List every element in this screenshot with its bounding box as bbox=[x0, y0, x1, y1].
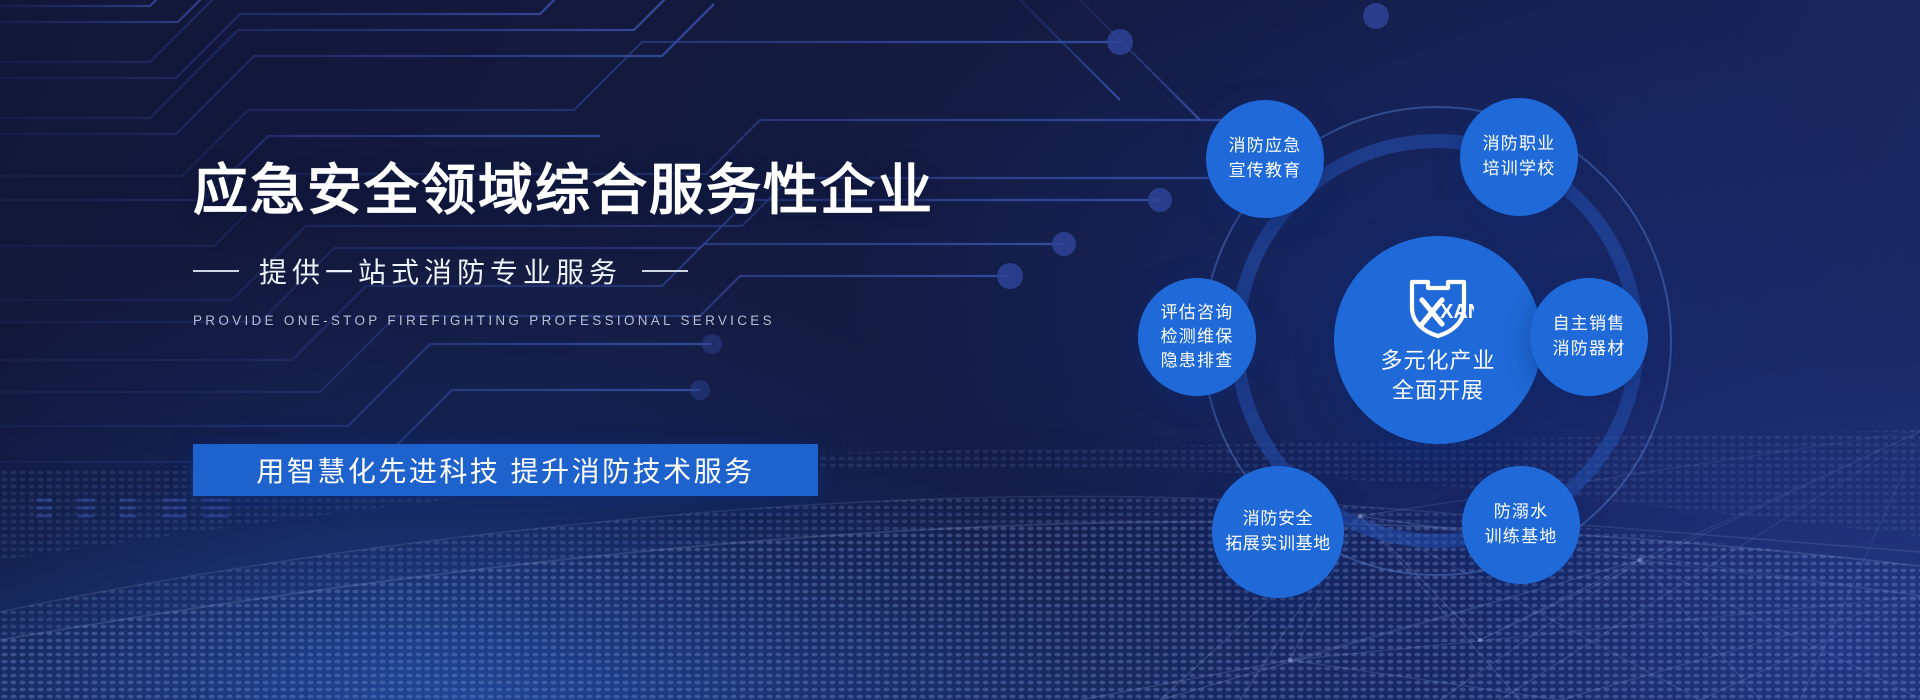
node-line-1: 自主销售 bbox=[1553, 312, 1626, 337]
center-label: 多元化产业 全面开展 bbox=[1380, 346, 1495, 405]
circuit-ticks bbox=[36, 500, 228, 516]
diagram-node-right[interactable]: 自主销售 消防器材 bbox=[1530, 278, 1648, 396]
shield-logo-icon: XAN bbox=[1402, 274, 1474, 340]
subtitle-row: 提供一站式消防专业服务 bbox=[193, 251, 893, 291]
node-line-2: 拓展实训基地 bbox=[1225, 532, 1331, 557]
subtitle-en: PROVIDE ONE-STOP FIREFIGHTING PROFESSION… bbox=[193, 313, 893, 328]
diagram-node-left[interactable]: 评估咨询 检测维保 隐患排查 bbox=[1138, 278, 1256, 396]
logo-text: XAN bbox=[1440, 301, 1474, 323]
diagram-center-node[interactable]: XAN 多元化产业 全面开展 bbox=[1334, 236, 1542, 444]
node-line-1: 防溺水 bbox=[1494, 500, 1549, 525]
center-line-1: 多元化产业 bbox=[1380, 346, 1495, 376]
diagram-node-top-left[interactable]: 消防应急 宣传教育 bbox=[1206, 100, 1324, 218]
services-diagram: XAN 多元化产业 全面开展 消防应急 宣传教育 消防职业 培训学校 评估咨询 … bbox=[1130, 78, 1770, 618]
diagram-node-bottom-right[interactable]: 防溺水 训练基地 bbox=[1462, 466, 1580, 584]
cta-banner[interactable]: 用智慧化先进科技 提升消防技术服务 bbox=[193, 444, 818, 496]
diagram-node-bottom-left[interactable]: 消防安全 拓展实训基地 bbox=[1212, 466, 1344, 598]
center-line-2: 全面开展 bbox=[1380, 376, 1495, 406]
node-line-1: 评估咨询 bbox=[1161, 301, 1234, 325]
node-line-2: 检测维保 bbox=[1161, 325, 1234, 349]
diagram-node-top-right[interactable]: 消防职业 培训学校 bbox=[1460, 98, 1578, 216]
dash-left-icon bbox=[193, 270, 239, 272]
dash-right-icon bbox=[642, 270, 688, 272]
hero-text-block: 应急安全领域综合服务性企业 提供一站式消防专业服务 PROVIDE ONE-ST… bbox=[193, 160, 893, 328]
page-title: 应急安全领域综合服务性企业 bbox=[193, 160, 893, 221]
subtitle-cn: 提供一站式消防专业服务 bbox=[259, 251, 622, 291]
cta-label: 用智慧化先进科技 提升消防技术服务 bbox=[256, 450, 754, 490]
node-line-3: 隐患排查 bbox=[1161, 349, 1234, 373]
node-line-2: 训练基地 bbox=[1485, 525, 1558, 550]
node-line-1: 消防职业 bbox=[1483, 132, 1556, 157]
node-line-1: 消防安全 bbox=[1243, 507, 1313, 532]
node-line-2: 消防器材 bbox=[1553, 337, 1626, 362]
node-line-1: 消防应急 bbox=[1229, 134, 1302, 159]
node-line-2: 宣传教育 bbox=[1229, 159, 1302, 184]
hero-banner: 应急安全领域综合服务性企业 提供一站式消防专业服务 PROVIDE ONE-ST… bbox=[0, 0, 1920, 700]
node-line-2: 培训学校 bbox=[1483, 157, 1556, 182]
